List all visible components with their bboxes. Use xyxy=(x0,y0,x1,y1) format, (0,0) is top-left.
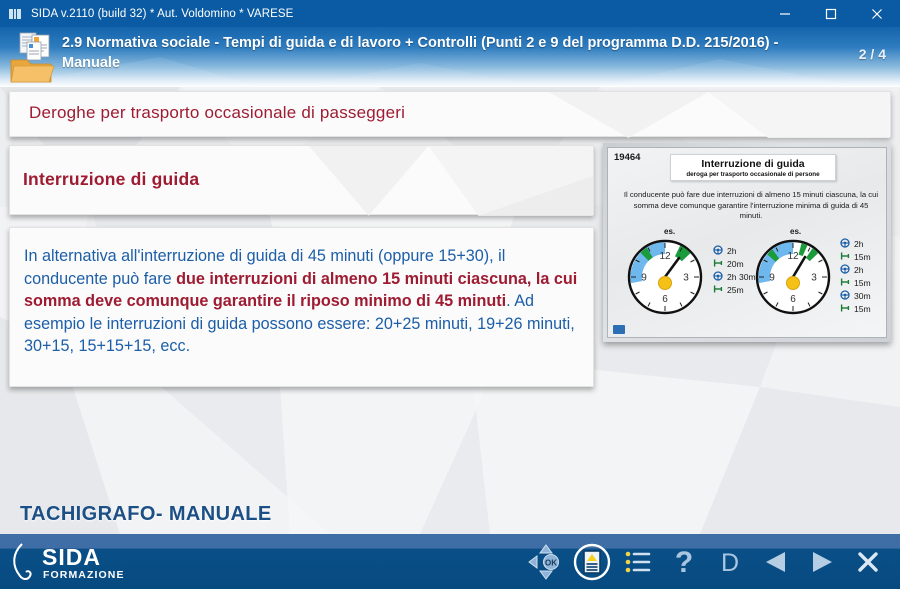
svg-text:12: 12 xyxy=(787,251,799,262)
legend-label: 25m xyxy=(727,285,744,295)
svg-text:?: ? xyxy=(675,546,693,579)
minimize-button[interactable] xyxy=(762,0,808,27)
clock-face-2: 12 3 6 9 xyxy=(754,238,832,316)
svg-text:SIDA: SIDA xyxy=(42,544,101,570)
svg-text:OK: OK xyxy=(545,558,557,567)
title-bar: SIDA v.2110 (build 32) * Aut. Voldomino … xyxy=(0,0,900,27)
break-bed-icon xyxy=(838,300,851,318)
x-icon xyxy=(853,547,883,577)
illustration-legend-1: 2h 20m 2h 30m xyxy=(711,244,756,296)
window-controls xyxy=(762,0,900,27)
previous-button[interactable] xyxy=(754,539,798,585)
sida-logo: SIDA FORMAZIONE xyxy=(6,538,146,584)
window-title: SIDA v.2110 (build 32) * Aut. Voldomino … xyxy=(31,8,293,20)
exit-button[interactable] xyxy=(846,539,890,585)
svg-text:6: 6 xyxy=(662,294,668,305)
legend-row: 15m xyxy=(838,302,871,315)
legend-label: 2h xyxy=(727,246,737,256)
help-button[interactable]: ? xyxy=(662,539,706,585)
page-header: 2.9 Normativa sociale - Tempi di guida e… xyxy=(0,27,900,87)
illustration-paragraph: Il conducente può fare due interruzioni … xyxy=(622,190,880,222)
illustration-title: Interruzione di guida xyxy=(701,158,804,170)
document-circled-icon xyxy=(572,542,612,582)
illustration-panel[interactable]: 19464 Interruzione di guida deroga per t… xyxy=(603,143,891,342)
slide-body-card: In alternativa all'interruzione di guida… xyxy=(9,227,594,387)
close-button[interactable] xyxy=(854,0,900,27)
dpad-ok-icon: OK xyxy=(526,542,566,582)
slide-content-button[interactable] xyxy=(570,539,614,585)
slide-subtitle-card: Interruzione di guida xyxy=(9,145,594,215)
next-button[interactable] xyxy=(800,539,844,585)
illustration-title-box: Interruzione di guida deroga per traspor… xyxy=(670,154,836,181)
svg-text:12: 12 xyxy=(659,251,671,262)
svg-text:FORMAZIONE: FORMAZIONE xyxy=(43,569,125,581)
example-label-2: es. xyxy=(790,227,801,236)
break-bed-icon xyxy=(711,281,724,299)
maximize-button[interactable] xyxy=(808,0,854,27)
svg-text:9: 9 xyxy=(641,273,647,284)
slide-toolbar: OK xyxy=(524,534,890,589)
folder-documents-icon xyxy=(8,29,58,84)
legend-label: 20m xyxy=(727,259,744,269)
svg-text:D: D xyxy=(721,549,739,577)
illustration-subtitle: deroga per trasporto occasionale di pers… xyxy=(686,171,819,178)
legend-label: 2h 30m xyxy=(727,272,756,282)
example-label-1: es. xyxy=(664,227,675,236)
legend-label: 15m xyxy=(854,304,871,314)
legend-label: 30m xyxy=(854,291,871,301)
legend-row: 25m xyxy=(711,283,756,296)
letter-d-icon: D xyxy=(715,545,745,579)
legend-label: 2h xyxy=(854,265,864,275)
illustration-id: 19464 xyxy=(614,152,640,163)
dpad-ok-button[interactable]: OK xyxy=(524,539,568,585)
slide-watermark: TACHIGRAFO- MANUALE xyxy=(20,503,272,526)
slide-body-text: In alternativa all'interruzione di guida… xyxy=(24,245,582,358)
legend-label: 15m xyxy=(854,278,871,288)
svg-text:9: 9 xyxy=(769,273,775,284)
page-indicator: 2 / 4 xyxy=(859,46,886,62)
legend-label: 2h xyxy=(854,239,864,249)
svg-text:6: 6 xyxy=(790,294,796,305)
slide-subtitle-text: Interruzione di guida xyxy=(23,169,199,190)
footer-bar: SIDA FORMAZIONE OK xyxy=(0,534,900,589)
legend-label: 15m xyxy=(854,252,871,262)
index-list-button[interactable] xyxy=(616,539,660,585)
triangle-left-icon xyxy=(759,547,793,577)
application-window: SIDA v.2110 (build 32) * Aut. Voldomino … xyxy=(0,0,900,589)
illustration-watermark-logo xyxy=(613,325,625,334)
document-stack-icon xyxy=(9,8,23,20)
svg-text:3: 3 xyxy=(683,273,689,284)
slide-canvas: Deroghe per trasporto occasionale di pas… xyxy=(0,87,900,534)
clock-face-1: 12 3 6 9 xyxy=(626,238,704,316)
page-title: 2.9 Normativa sociale - Tempi di guida e… xyxy=(62,33,832,73)
list-icon xyxy=(623,547,653,577)
slide-banner: Deroghe per trasporto occasionale di pas… xyxy=(9,91,891,137)
triangle-right-icon xyxy=(805,547,839,577)
question-mark-icon: ? xyxy=(669,545,699,579)
slide-banner-text: Deroghe per trasporto occasionale di pas… xyxy=(29,103,405,123)
svg-text:3: 3 xyxy=(811,273,817,284)
illustration-legend-2: 2h 15m 2h xyxy=(838,237,871,315)
dictionary-button[interactable]: D xyxy=(708,539,752,585)
